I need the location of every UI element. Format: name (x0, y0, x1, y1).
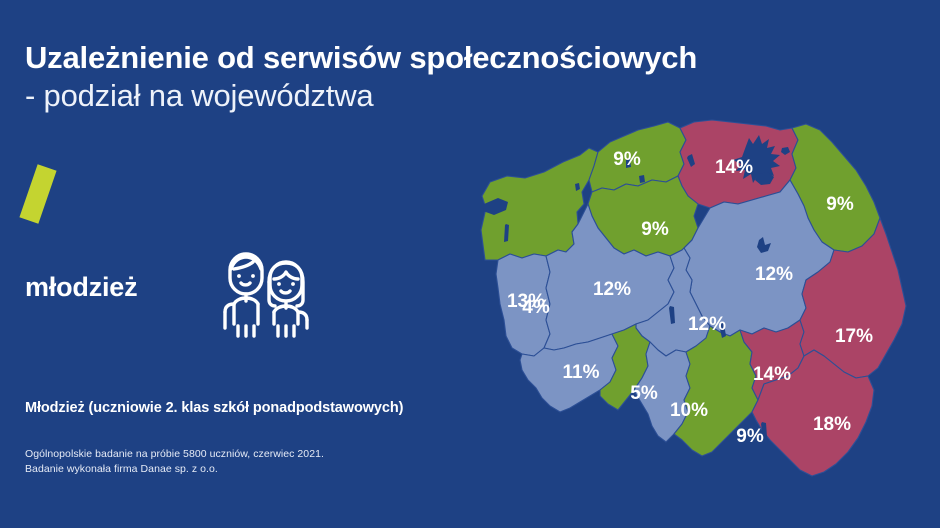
region-label-swietokrzyskie: 14% (753, 364, 791, 385)
region-label-mazowieckie: 12% (755, 264, 793, 285)
region-label-wielkopolskie: 12% (593, 279, 631, 300)
segment-row: młodzież (25, 258, 325, 338)
two-youths-icon (212, 242, 320, 343)
region-label-lubuskie: 13% (507, 291, 545, 312)
region-label-dolnoslaskie: 11% (563, 362, 600, 383)
segment-label: młodzież (25, 272, 137, 303)
region-label-opolskie: 5% (630, 383, 658, 404)
region-label-pomorskie: 9% (613, 149, 641, 170)
region-label-malopolskie: 9% (736, 426, 764, 447)
poland-choropleth-map: 4% 9% 14% 9% 9% 13% 12% 12% 12% 11% 5% 1… (462, 100, 940, 500)
region-label-podkarpackie: 18% (813, 414, 851, 435)
region-label-lodzkie: 12% (688, 314, 726, 335)
footer-note-line2: Badanie wykonała firma Danae sp. z o.o. (25, 462, 324, 477)
region-label-kujawsko-pomorskie: 9% (641, 219, 669, 240)
footer-note-line1: Ogólnopolskie badanie na próbie 5800 ucz… (25, 447, 324, 462)
region-label-lubelskie: 17% (835, 326, 873, 347)
footer-heading: Młodzież (uczniowie 2. klas szkół ponadp… (25, 400, 403, 416)
water-lake-pomorskie (639, 175, 645, 183)
region-label-podlaskie: 9% (826, 194, 854, 215)
infographic-canvas: Uzależnienie od serwisów społecznościowy… (0, 0, 940, 528)
accent-bar (19, 164, 56, 223)
region-label-slaskie: 10% (670, 400, 708, 421)
footer-note: Ogólnopolskie badanie na próbie 5800 ucz… (25, 447, 324, 477)
page-title: Uzależnienie od serwisów społecznościowy… (25, 40, 785, 77)
region-label-warminsko-mazurskie: 14% (715, 157, 753, 178)
